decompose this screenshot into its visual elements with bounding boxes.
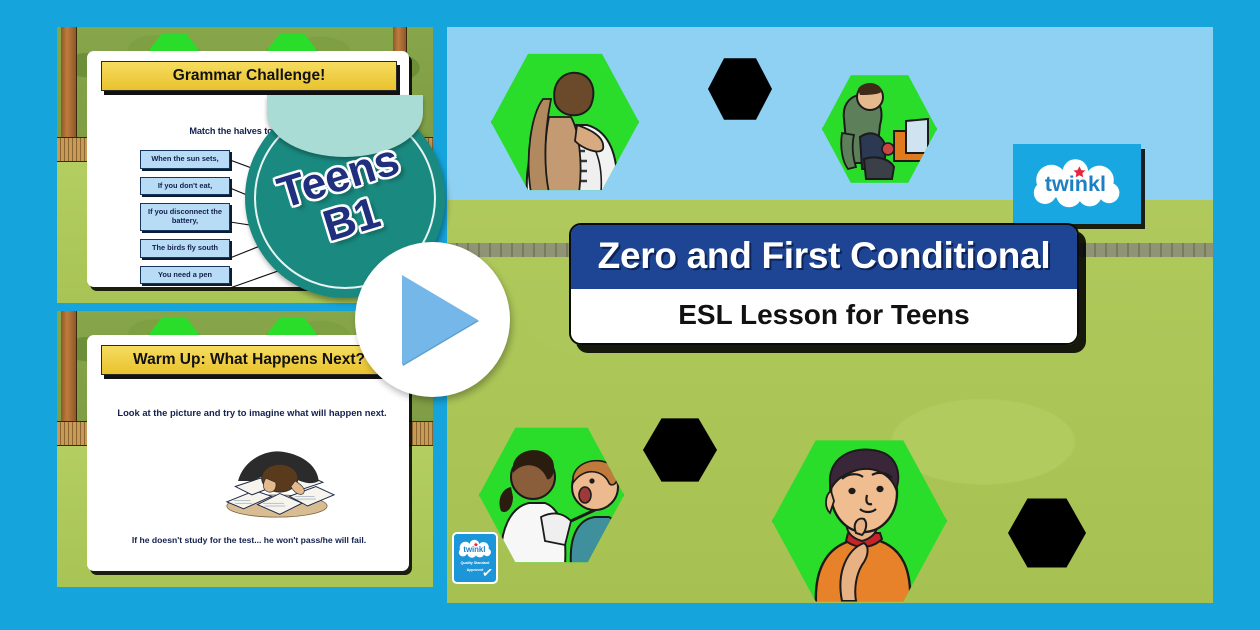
sleeping-student-illustration (207, 442, 347, 522)
slide-instruction: Look at the picture and try to imagine w… (115, 407, 389, 420)
lesson-subtitle: ESL Lesson for Teens (571, 289, 1077, 343)
match-item[interactable]: When the sun sets, (140, 150, 230, 169)
main-preview-image[interactable]: twinkl Zero and First Conditional ESL Le… (447, 27, 1213, 603)
approved-check-icon: ✓ (481, 564, 494, 581)
lesson-title: Zero and First Conditional (571, 225, 1077, 289)
twinkl-cloud-icon: twinkl (1029, 159, 1125, 209)
slide-title-bar: Warm Up: What Happens Next? (101, 345, 397, 375)
tree-trunk (61, 27, 77, 154)
approved-line-2: Approved (467, 568, 484, 573)
slide-caption: If he doesn't study for the test... he w… (99, 535, 399, 545)
twinkl-cloud-icon-small: twinkl (457, 539, 493, 559)
tree-trunk (61, 311, 77, 438)
twinkl-logo-box[interactable]: twinkl (1013, 144, 1141, 224)
match-item[interactable]: If you don't eat, (140, 177, 230, 196)
slide-title-text: Warm Up: What Happens Next? (133, 352, 365, 368)
match-item[interactable]: If you disconnect the battery, (140, 203, 230, 230)
quality-standard-approved-badge: twinkl Quality Standard Approved ✓ (452, 532, 498, 584)
play-triangle-icon (402, 275, 478, 365)
match-halves-column: When the sun sets, If you don't eat, If … (140, 150, 230, 292)
play-preview-button[interactable] (355, 242, 510, 397)
slide-title-text: Grammar Challenge! (173, 68, 325, 84)
match-item[interactable]: You need a pen (140, 266, 230, 285)
svg-text:twinkl: twinkl (463, 545, 485, 554)
lesson-title-block: Zero and First Conditional ESL Lesson fo… (569, 223, 1079, 345)
preview-canvas: Grammar Challenge! Match the halves to c… (0, 0, 1260, 630)
slide-title-bar: Grammar Challenge! (101, 61, 397, 91)
match-item[interactable]: The birds fly south (140, 239, 230, 258)
twinkl-wordmark: twinkl (1045, 171, 1106, 196)
